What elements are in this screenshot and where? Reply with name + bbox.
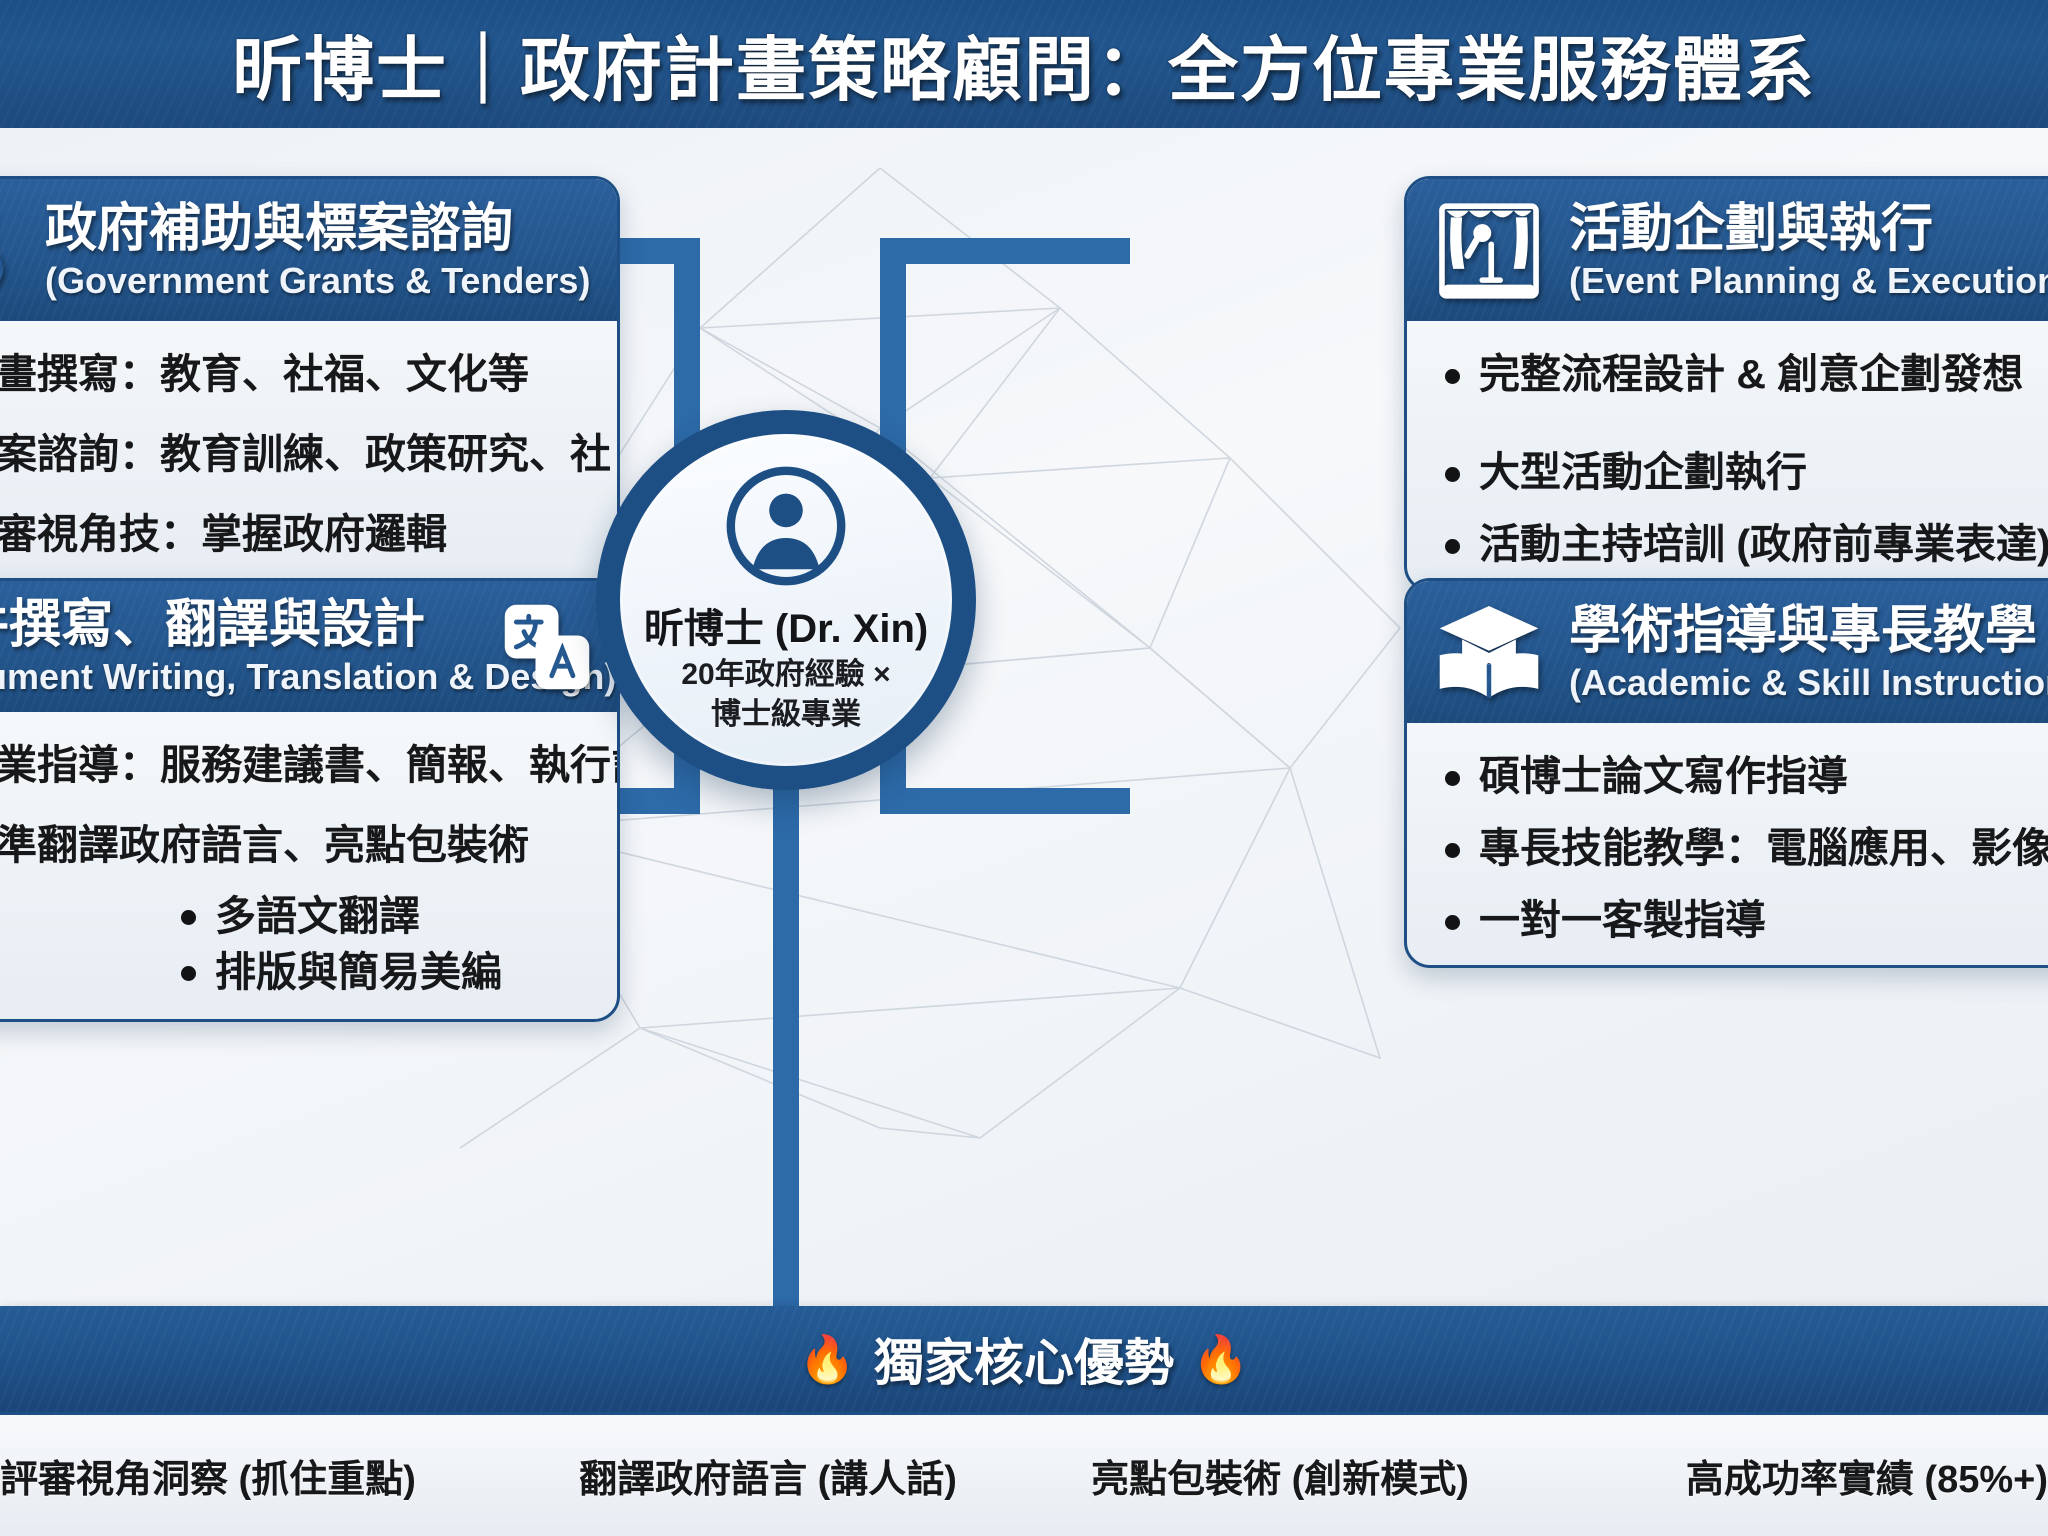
card-title-en: (Event Planning & Execution) — [1569, 260, 2048, 301]
person-avatar-icon — [726, 466, 846, 586]
card-event-planning-bullets: 完整流程設計 & 創意企劃發想 大型活動企劃執行 活動主持培訓 (政府前專業表達… — [1433, 347, 2048, 571]
card-document-writing-subcolumns: 書 修 多語文翻譯 排版與簡易美編 — [0, 888, 591, 1001]
list-item: 評審視角技：掌握政府邏輯 — [0, 507, 591, 561]
card-event-planning-titles: 活動企劃與執行 (Event Planning & Execution) — [1569, 201, 2048, 302]
connector-hub-to-banner — [773, 728, 799, 1306]
hub-subtitle-line-2: 博士級專業 — [711, 696, 861, 734]
core-advantages-banner: 🔥 獨家核心優勢 🔥 — [0, 1306, 2048, 1412]
stage-microphone-icon — [1429, 195, 1549, 307]
list-item: 排版與簡易美編 — [169, 944, 502, 1001]
center-hub[interactable]: 昕博士 (Dr. Xin) 20年政府經驗 × 博士級專業 — [596, 410, 976, 790]
card-title-zh: 政府補助與標案諮詢 — [45, 201, 590, 258]
list-item: 專長技能教學：電腦應用、影像規劃 — [1433, 821, 2048, 875]
connector-top-right-horizontal — [880, 238, 1130, 264]
page-header: 昕博士｜政府計畫策略顧問：全方位專業服務體系 — [0, 0, 2048, 128]
card-document-writing-body: 專業指導：服務建議書、簡報、執行計畫 精準翻譯政府語言、亮點包裝術 書 修 多語… — [0, 712, 617, 1019]
list-item: 活動主持培訓 (政府前專業表達) — [1433, 517, 2048, 571]
advantage-item-4: 高成功率實績 (85%+) — [1536, 1448, 2048, 1503]
flame-icon-left: 🔥 — [799, 1336, 856, 1382]
advantage-item-3: 亮點包裝術 (創新模式) — [1024, 1448, 1536, 1503]
card-government-grants-header: 政府補助與標案諮詢 (Government Grants & Tenders) — [0, 179, 617, 321]
diagram-canvas: 政府補助與標案諮詢 (Government Grants & Tenders) … — [0, 128, 2048, 1306]
card-government-grants-bullets: 計畫撰寫：教育、社福、文化等 標案諮詢：教育訓練、政策研究、社 評審視角技：掌握… — [0, 347, 591, 561]
list-item: 多語文翻譯 — [169, 888, 502, 945]
card-academic-instruction-body: 碩博士論文寫作指導 專長技能教學：電腦應用、影像規劃 一對一客製指導 — [1407, 723, 2048, 965]
card-event-planning-header: 活動企劃與執行 (Event Planning & Execution) — [1407, 179, 2048, 321]
translate-icon — [499, 599, 595, 695]
list-item: 精準翻譯政府語言、亮點包裝術 — [0, 818, 591, 872]
card-government-grants[interactable]: 政府補助與標案諮詢 (Government Grants & Tenders) … — [0, 176, 620, 582]
list-item: 專業指導：服務建議書、簡報、執行計畫 — [0, 738, 591, 792]
card-document-writing[interactable]: 文件撰寫、翻譯與設計 (Document Writing, Translatio… — [0, 578, 620, 1022]
hub-inner-content: 昕博士 (Dr. Xin) 20年政府經驗 × 博士級專業 — [620, 434, 952, 766]
card-title-en: (Government Grants & Tenders) — [45, 260, 590, 301]
advantage-item-1: 評審視角洞察 (抓住重點) — [0, 1448, 512, 1503]
advantage-item-2: 翻譯政府語言 (講人話) — [512, 1448, 1024, 1503]
list-item: 碩博士論文寫作指導 — [1433, 749, 2048, 803]
hub-subtitle-line-1: 20年政府經驗 × — [681, 656, 890, 694]
card-title-en: (Academic & Skill Instruction) — [1569, 662, 2048, 703]
list-item: 一對一客製指導 — [1433, 893, 2048, 947]
flame-icon-right: 🔥 — [1192, 1336, 1249, 1382]
graduation-book-icon — [1429, 597, 1549, 709]
hub-name-label: 昕博士 (Dr. Xin) — [644, 596, 928, 654]
card-academic-instruction-bullets: 碩博士論文寫作指導 專長技能教學：電腦應用、影像規劃 一對一客製指導 — [1433, 749, 2048, 947]
card-document-writing-header: 文件撰寫、翻譯與設計 (Document Writing, Translatio… — [0, 581, 617, 712]
page-title: 昕博士｜政府計畫策略顧問：全方位專業服務體系 — [232, 14, 1816, 115]
card-title-zh: 文件撰寫、翻譯與設計 — [0, 597, 479, 654]
card-title-zh: 學術指導與專長教學 — [1569, 603, 2048, 660]
list-item: 書 — [0, 888, 159, 945]
card-title-zh: 活動企劃與執行 — [1569, 201, 2048, 258]
card-event-planning[interactable]: 活動企劃與執行 (Event Planning & Execution) 完整流… — [1404, 176, 2048, 592]
list-item: 標案諮詢：教育訓練、政策研究、社 — [0, 427, 591, 481]
card-academic-instruction[interactable]: 學術指導與專長教學 (Academic & Skill Instruction)… — [1404, 578, 2048, 968]
card-document-writing-titles: 文件撰寫、翻譯與設計 (Document Writing, Translatio… — [0, 597, 479, 698]
list-item: 完整流程設計 & 創意企劃發想 — [1433, 347, 2048, 401]
card-government-grants-body: 計畫撰寫：教育、社福、文化等 標案諮詢：教育訓練、政策研究、社 評審視角技：掌握… — [0, 321, 617, 579]
card-document-writing-bullets: 專業指導：服務建議書、簡報、執行計畫 精準翻譯政府語言、亮點包裝術 — [0, 738, 591, 872]
document-stamp-icon — [0, 195, 25, 307]
subcolumn-right: 多語文翻譯 排版與簡易美編 — [169, 888, 502, 1001]
list-item: 大型活動企劃執行 — [1433, 445, 2048, 499]
subcolumn-left: 書 修 — [0, 888, 159, 1001]
card-title-en: (Document Writing, Translation & Design) — [0, 656, 479, 697]
card-academic-instruction-header: 學術指導與專長教學 (Academic & Skill Instruction) — [1407, 581, 2048, 723]
core-advantages-title: 獨家核心優勢 — [874, 1323, 1174, 1395]
card-academic-instruction-titles: 學術指導與專長教學 (Academic & Skill Instruction) — [1569, 603, 2048, 704]
core-advantages-strip: 評審視角洞察 (抓住重點) 翻譯政府語言 (講人話) 亮點包裝術 (創新模式) … — [0, 1412, 2048, 1536]
card-government-grants-titles: 政府補助與標案諮詢 (Government Grants & Tenders) — [45, 201, 590, 302]
connector-bottom-right-horizontal — [880, 788, 1130, 814]
list-item: 計畫撰寫：教育、社福、文化等 — [0, 347, 591, 401]
card-event-planning-body: 完整流程設計 & 創意企劃發想 大型活動企劃執行 活動主持培訓 (政府前專業表達… — [1407, 321, 2048, 589]
list-item: 修 — [0, 944, 159, 1001]
